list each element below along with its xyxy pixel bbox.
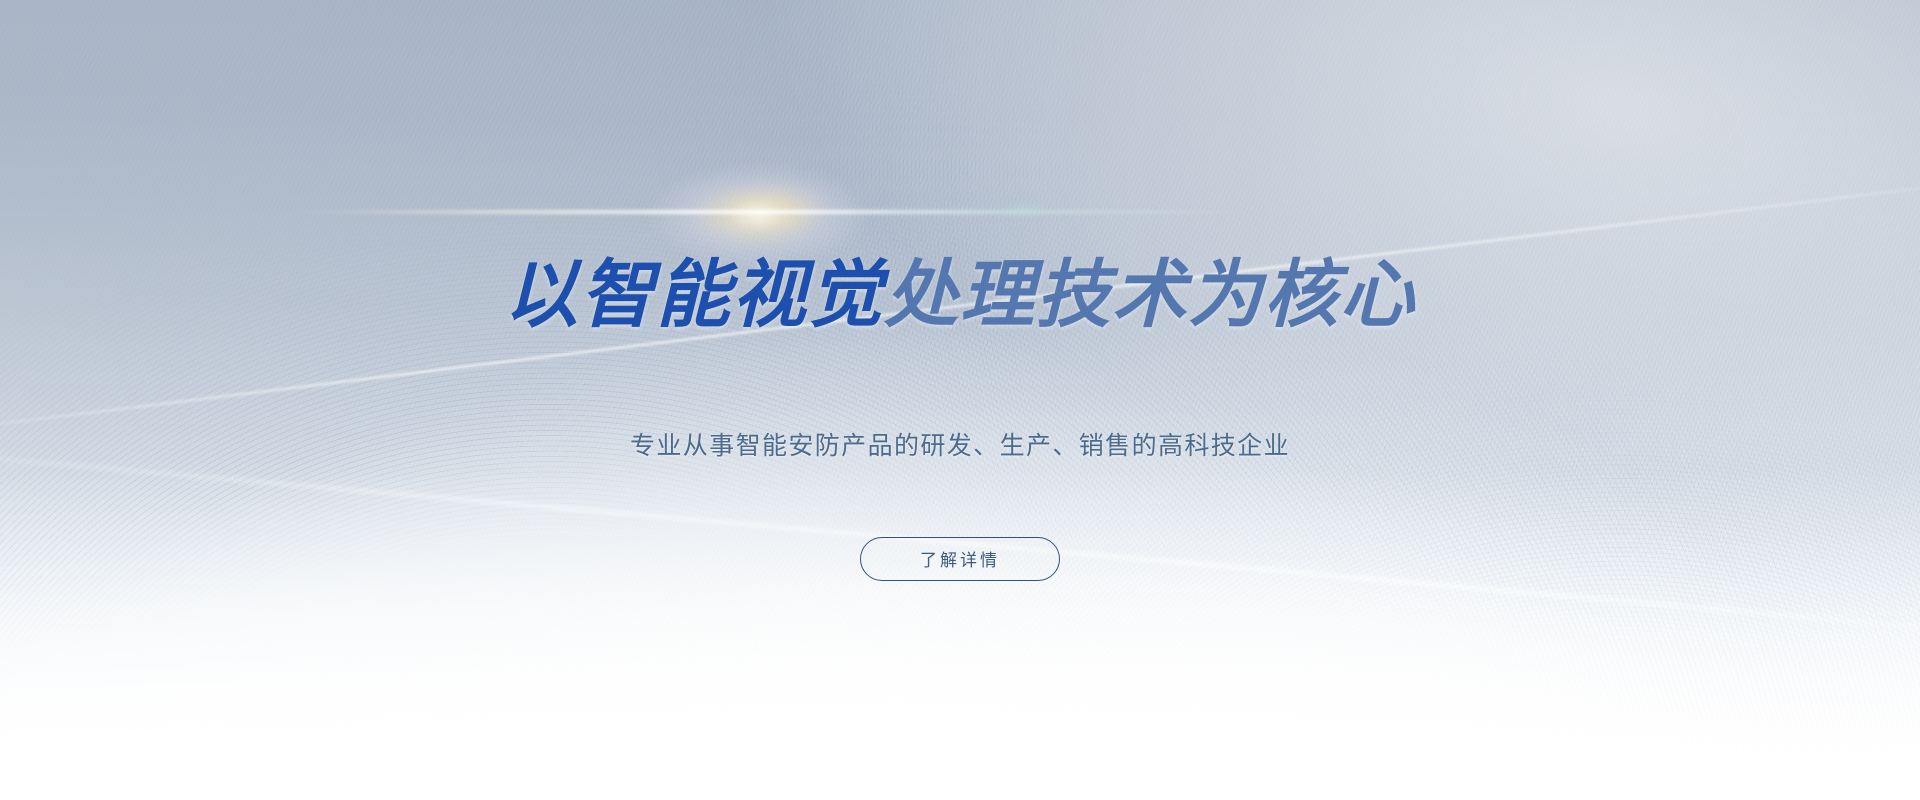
hero-subtitle: 专业从事智能安防产品的研发、生产、销售的高科技企业 [630, 426, 1290, 462]
hero-content: 以智能视觉处理技术为核心 专业从事智能安防产品的研发、生产、销售的高科技企业 了… [0, 0, 1920, 800]
hero-banner: 以智能视觉处理技术为核心 专业从事智能安防产品的研发、生产、销售的高科技企业 了… [0, 0, 1920, 800]
headline-highlight: 以智能视觉 [504, 253, 884, 336]
hero-headline: 以智能视觉处理技术为核心 [504, 258, 1416, 332]
learn-more-button[interactable]: 了解详情 [860, 537, 1060, 581]
headline-rest: 处理技术为核心 [884, 253, 1416, 336]
